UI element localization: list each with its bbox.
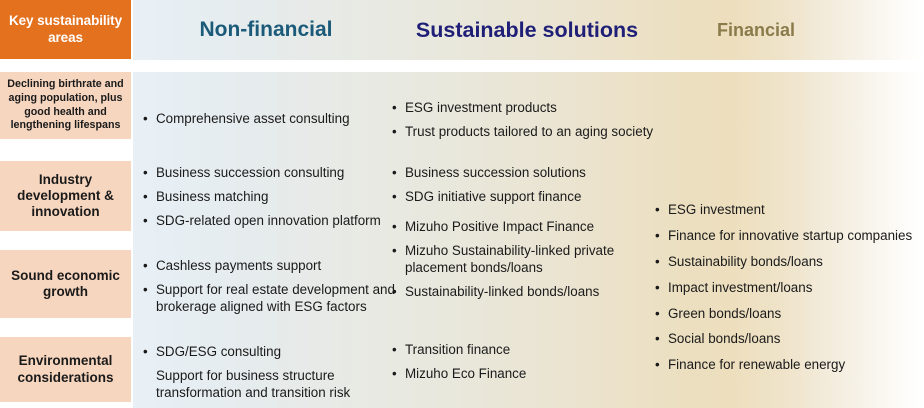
list-item: •ESG investment products [392, 100, 682, 117]
category-label: Sound economic growth [4, 268, 127, 300]
list-item: •Social bonds/loans [655, 331, 924, 348]
list-item: •Trust products tailored to an aging soc… [392, 124, 682, 141]
list-item: •Finance for innovative startup companie… [655, 228, 924, 245]
bullet-icon: • [143, 111, 156, 128]
list-item-label: Business matching [156, 189, 405, 206]
list-item-label: ESG investment products [405, 100, 682, 117]
list-item: •Sustainability bonds/loans [655, 254, 924, 271]
bullet-icon: • [392, 342, 405, 359]
bullet-icon: • [392, 284, 405, 301]
list-item: •Business matching [143, 189, 405, 206]
cell-nonfinancial-industry: •Business succession consulting•Business… [143, 165, 405, 230]
cell-sustainable-industry: •Business succession solutions•SDG initi… [392, 165, 682, 206]
list-item-label: Business succession solutions [405, 165, 682, 182]
bullet-icon: • [143, 344, 156, 361]
cell-sustainable-growth: •Mizuho Positive Impact Finance•Mizuho S… [392, 219, 640, 301]
sustainability-matrix: Key sustainability areas Non-financial S… [0, 0, 924, 408]
cell-nonfinancial-growth: •Cashless payments support•Support for r… [143, 258, 408, 316]
list-item-label: Cashless payments support [156, 258, 408, 275]
list-item: •Support for real estate development and… [143, 282, 408, 316]
bullet-icon: • [392, 100, 405, 117]
list-item: •SDG initiative support finance [392, 189, 682, 206]
key-sustainability-areas-label: Key sustainability areas [3, 13, 128, 46]
cell-financial-all: •ESG investment•Finance for innovative s… [655, 202, 924, 383]
list-item: •Transition finance [392, 342, 652, 359]
list-item-label: Trust products tailored to an aging soci… [405, 124, 682, 141]
category-box-demographics: Declining birthrate and aging population… [0, 72, 131, 139]
category-label: Declining birthrate and aging population… [4, 78, 127, 133]
bullet-icon: • [143, 213, 156, 230]
column-header-financial: Financial [680, 0, 832, 60]
list-item: •Sustainability-linked bonds/loans [392, 284, 640, 301]
list-item-label: Sustainability-linked bonds/loans [405, 284, 640, 301]
bullet-icon: • [143, 189, 156, 206]
bullet-icon: • [143, 165, 156, 182]
list-item-label: SDG-related open innovation platform [156, 213, 405, 230]
bullet-icon: • [392, 124, 405, 141]
list-item: •ESG investment [655, 202, 924, 219]
list-item: •Business succession consulting [143, 165, 405, 182]
bullet-icon: • [655, 228, 668, 245]
list-item-label: Mizuho Positive Impact Finance [405, 219, 640, 236]
bullet-icon: • [655, 357, 668, 374]
bullet-icon: • [655, 280, 668, 297]
list-item: •Mizuho Sustainability-linked private pl… [392, 243, 640, 277]
list-item-label: Impact investment/loans [668, 280, 924, 297]
bullet-icon: • [655, 306, 668, 323]
list-item-label: Finance for innovative startup companies [668, 228, 924, 245]
list-item-label: Mizuho Eco Finance [405, 366, 652, 383]
list-item-label: Transition finance [405, 342, 652, 359]
list-item: •Finance for renewable energy [655, 357, 924, 374]
list-item: •Support for business structure transfor… [143, 368, 405, 402]
list-item: •Comprehensive asset consulting [143, 111, 405, 128]
bullet-icon: • [392, 366, 405, 383]
list-item-label: Finance for renewable energy [668, 357, 924, 374]
list-item-label: Social bonds/loans [668, 331, 924, 348]
bullet-icon: • [392, 243, 405, 260]
category-label: Industry development & innovation [4, 172, 127, 221]
bullet-icon: • [655, 331, 668, 348]
list-item: •SDG-related open innovation platform [143, 213, 405, 230]
list-item: •SDG/ESG consulting [143, 344, 405, 361]
list-item-label: ESG investment [668, 202, 924, 219]
bullet-icon: • [655, 254, 668, 271]
cell-sustainable-environmental: •Transition finance•Mizuho Eco Finance [392, 342, 652, 383]
list-item-label: Green bonds/loans [668, 306, 924, 323]
list-item-label: Mizuho Sustainability-linked private pla… [405, 243, 640, 277]
category-box-industry-development: Industry development & innovation [0, 161, 131, 231]
list-item: •Business succession solutions [392, 165, 682, 182]
list-item-label: Support for business structure transform… [156, 368, 405, 402]
category-box-environmental: Environmental considerations [0, 337, 131, 402]
category-label: Environmental considerations [4, 353, 127, 385]
bullet-icon: • [655, 202, 668, 219]
column-header-non-financial: Non-financial [196, 0, 336, 60]
bullet-icon: • [143, 258, 156, 275]
cell-nonfinancial-environmental: •SDG/ESG consulting•Support for business… [143, 344, 405, 402]
list-item: •Impact investment/loans [655, 280, 924, 297]
list-item-label: Comprehensive asset consulting [156, 111, 405, 128]
list-item-label: SDG/ESG consulting [156, 344, 405, 361]
list-item-label: SDG initiative support finance [405, 189, 682, 206]
list-item-label: Support for real estate development and … [156, 282, 408, 316]
bullet-icon: • [392, 219, 405, 236]
list-item: •Mizuho Eco Finance [392, 366, 652, 383]
list-item-label: Sustainability bonds/loans [668, 254, 924, 271]
cell-sustainable-demographics: •ESG investment products•Trust products … [392, 100, 682, 141]
list-item: •Green bonds/loans [655, 306, 924, 323]
bullet-icon: • [392, 165, 405, 182]
category-box-economic-growth: Sound economic growth [0, 250, 131, 318]
list-item-label: Business succession consulting [156, 165, 405, 182]
bullet-icon: • [392, 189, 405, 206]
list-item: •Mizuho Positive Impact Finance [392, 219, 640, 236]
list-item: •Cashless payments support [143, 258, 408, 275]
column-header-sustainable-solutions: Sustainable solutions [372, 0, 682, 60]
bullet-icon: • [143, 282, 156, 299]
cell-nonfinancial-demographics: •Comprehensive asset consulting [143, 111, 405, 128]
key-sustainability-areas-header: Key sustainability areas [0, 0, 131, 59]
